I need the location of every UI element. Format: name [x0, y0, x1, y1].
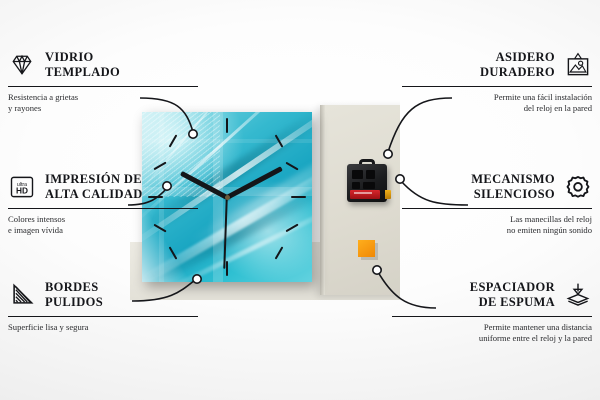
feature-description: Colores intensos e imagen vívida: [8, 214, 198, 237]
feature-head: ESPACIADOR DE ESPUMA: [392, 280, 592, 311]
desc-line-1: Colores intensos: [8, 214, 198, 226]
hour-marker: [226, 261, 229, 276]
hour-marker: [226, 118, 229, 133]
ultra-hd-icon: ultra HD: [8, 173, 36, 201]
product-infographic: VIDRIO TEMPLADO Resistencia a grietas y …: [0, 0, 600, 400]
divider: [8, 86, 198, 87]
title-line-2: PULIDOS: [45, 295, 103, 310]
desc-line-1: Permite mantener una distancia: [392, 322, 592, 334]
desc-line-1: Permite una fácil instalación: [402, 92, 592, 104]
title-line-1: MECANISMO: [471, 172, 555, 187]
desc-line-1: Las manecillas del reloj: [402, 214, 592, 226]
title-line-1: ESPACIADOR: [470, 280, 555, 295]
title-line-1: IMPRESIÓN DE: [45, 172, 143, 187]
title-line-1: BORDES: [45, 280, 103, 295]
glass-reflection: [142, 139, 312, 143]
feature-espaciador-espuma: ESPACIADOR DE ESPUMA Permite mantener un…: [392, 280, 592, 345]
clock-center-pin: [225, 195, 230, 200]
feature-head: MECANISMO SILENCIOSO: [402, 172, 592, 203]
feature-title: IMPRESIÓN DE ALTA CALIDAD: [45, 172, 143, 203]
title-line-2: SILENCIOSO: [471, 187, 555, 202]
feature-impresion-alta-calidad: ultra HD IMPRESIÓN DE ALTA CALIDAD Color…: [8, 172, 198, 237]
divider: [402, 208, 592, 209]
feature-title: MECANISMO SILENCIOSO: [471, 172, 555, 203]
feature-head: ultra HD IMPRESIÓN DE ALTA CALIDAD: [8, 172, 198, 203]
title-line-2: DE ESPUMA: [470, 295, 555, 310]
feature-vidrio-templado: VIDRIO TEMPLADO Resistencia a grietas y …: [8, 50, 198, 115]
feature-title: BORDES PULIDOS: [45, 280, 103, 311]
desc-line-2: no emiten ningún sonido: [402, 225, 592, 237]
svg-text:HD: HD: [16, 186, 28, 196]
hour-marker: [291, 196, 306, 199]
desc-line-2: e imagen vívida: [8, 225, 198, 237]
battery: [350, 190, 380, 199]
divider: [8, 208, 198, 209]
clock-mechanism: [347, 164, 387, 202]
feature-title: ASIDERO DURADERO: [480, 50, 555, 81]
title-line-1: VIDRIO: [45, 50, 120, 65]
title-line-1: ASIDERO: [480, 50, 555, 65]
desc-line-1: Resistencia a grietas: [8, 92, 198, 104]
desc-line-2: del reloj en la pared: [402, 103, 592, 115]
desc-line-1: Superficie lisa y segura: [8, 322, 198, 334]
feature-head: ASIDERO DURADERO: [402, 50, 592, 81]
mechanism-body: [347, 164, 387, 202]
feature-description: Superficie lisa y segura: [8, 322, 198, 334]
feature-head: VIDRIO TEMPLADO: [8, 50, 198, 81]
divider: [392, 316, 592, 317]
feature-asidero-duradero: ASIDERO DURADERO Permite una fácil insta…: [402, 50, 592, 115]
feature-mecanismo-silencioso: MECANISMO SILENCIOSO Las manecillas del …: [402, 172, 592, 237]
feature-description: Permite mantener una distancia uniforme …: [392, 322, 592, 345]
battery-cap: [385, 190, 391, 199]
feature-title: ESPACIADOR DE ESPUMA: [470, 280, 555, 311]
title-line-2: DURADERO: [480, 65, 555, 80]
feature-head: BORDES PULIDOS: [8, 280, 198, 311]
foam-spacer: [358, 240, 375, 257]
gear-icon: [564, 173, 592, 201]
foam-spacer-icon: [564, 281, 592, 309]
feature-description: Resistencia a grietas y rayones: [8, 92, 198, 115]
hanging-frame-icon: [564, 51, 592, 79]
title-line-2: ALTA CALIDAD: [45, 187, 143, 202]
desc-line-2: y rayones: [8, 103, 198, 115]
feature-description: Las manecillas del reloj no emiten ningú…: [402, 214, 592, 237]
divider: [402, 86, 592, 87]
feature-title: VIDRIO TEMPLADO: [45, 50, 120, 81]
diamond-icon: [8, 51, 36, 79]
desc-line-2: uniforme entre el reloj y la pared: [392, 333, 592, 345]
polished-edges-icon: [8, 281, 36, 309]
feature-description: Permite una fácil instalación del reloj …: [402, 92, 592, 115]
feature-bordes-pulidos: BORDES PULIDOS Superficie lisa y segura: [8, 280, 198, 333]
divider: [8, 316, 198, 317]
title-line-2: TEMPLADO: [45, 65, 120, 80]
